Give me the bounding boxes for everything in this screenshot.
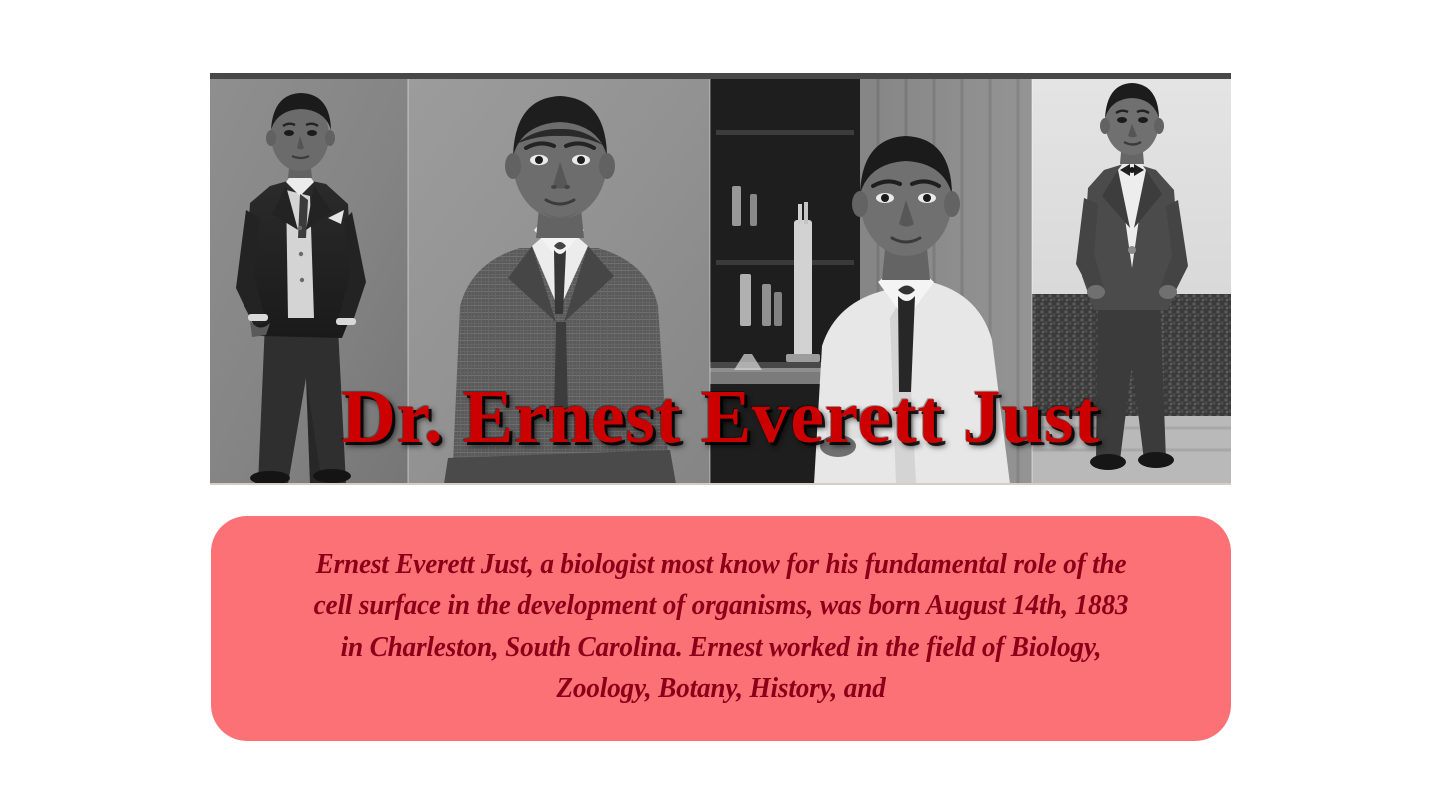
slide-canvas: Dr. Ernest Everett Just Ernest Everett J… [0, 0, 1440, 810]
biography-paragraph: Ernest Everett Just, a biologist most kn… [307, 544, 1134, 709]
biography-card: Ernest Everett Just, a biologist most kn… [211, 516, 1231, 741]
page-title: Dr. Ernest Everett Just [210, 379, 1231, 455]
hero-image-band: Dr. Ernest Everett Just [210, 73, 1231, 485]
